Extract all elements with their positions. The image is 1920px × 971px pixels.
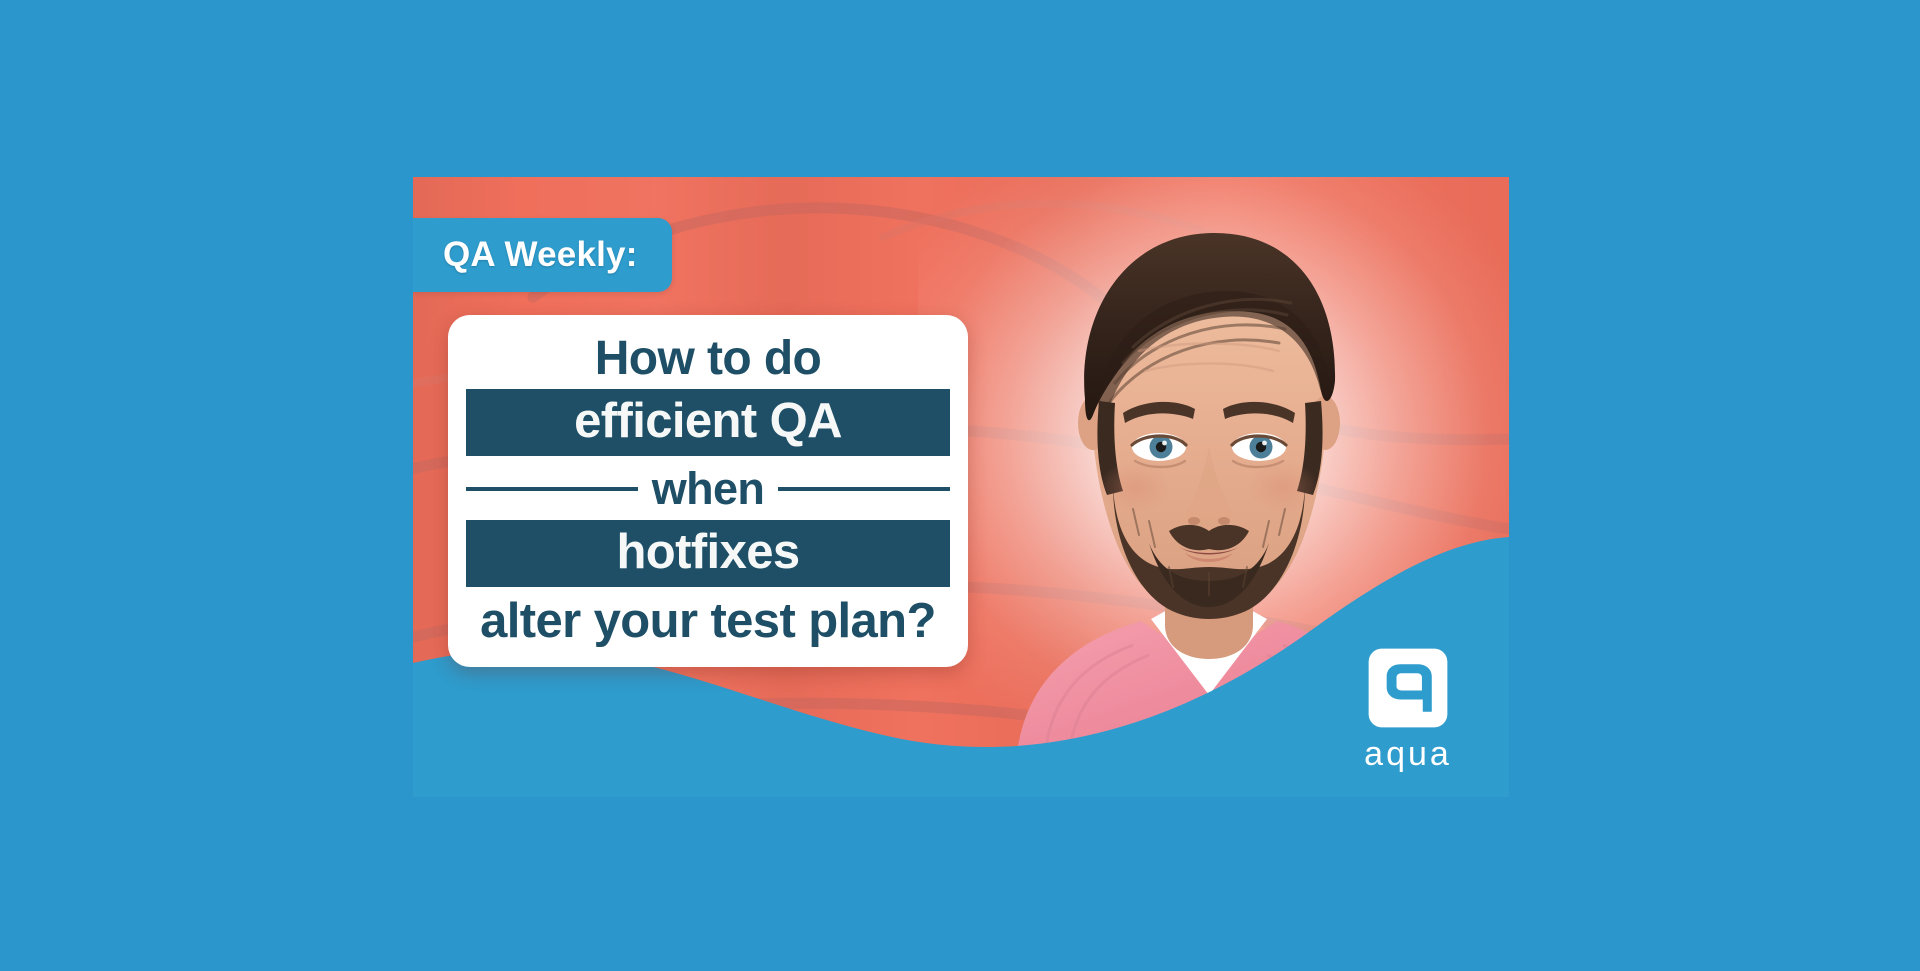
page-background: QA Weekly: How to do efficient QA when h… [0, 0, 1920, 971]
title-line-2: efficient QA [466, 389, 950, 456]
title-line-3: when [466, 460, 950, 516]
qa-weekly-badge-label: QA Weekly: [443, 235, 638, 275]
aqua-q-mark [1367, 647, 1449, 729]
title-line-1: How to do [466, 332, 950, 385]
title-line-3-label: when [652, 466, 765, 512]
aqua-wordmark: aqua [1358, 737, 1458, 771]
title-rule-right [778, 487, 950, 491]
video-thumbnail-card: QA Weekly: How to do efficient QA when h… [413, 177, 1509, 797]
qa-weekly-badge: QA Weekly: [413, 218, 672, 292]
title-line-4: hotfixes [466, 520, 950, 587]
title-rule-left [466, 487, 638, 491]
aqua-logo: aqua [1358, 647, 1458, 771]
title-card: How to do efficient QA when hotfixes alt… [448, 315, 968, 667]
title-line-5: alter your test plan? [466, 591, 950, 647]
